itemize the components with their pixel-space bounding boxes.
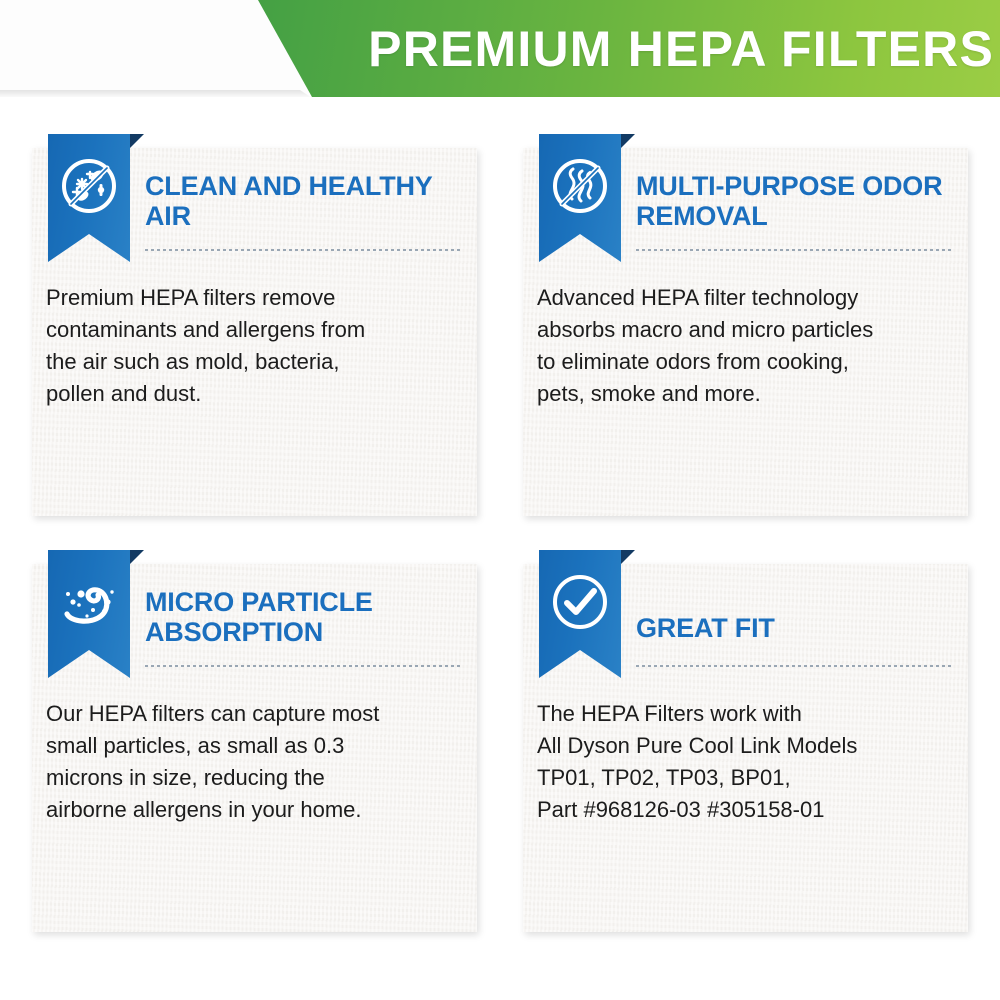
heading-divider (636, 665, 954, 667)
card-body-text: Our HEPA filters can capture most small … (46, 698, 466, 826)
ribbon-badge (48, 550, 130, 678)
no-odor-icon (548, 154, 612, 218)
banner-wedge-shadow (0, 90, 312, 97)
heading-divider (145, 249, 463, 251)
card-heading: MULTI-PURPOSE ODOR REMOVAL (636, 172, 952, 231)
card-body-text: Advanced HEPA filter technology absorbs … (537, 282, 957, 410)
ribbon-badge (539, 134, 621, 262)
feature-card-great-fit: GREAT FIT The HEPA Filters work with All… (523, 564, 968, 932)
card-heading: CLEAN AND HEALTHY AIR (145, 172, 461, 231)
dust-swirl-icon (57, 570, 121, 634)
no-germs-icon (57, 154, 121, 218)
feature-card-grid: CLEAN AND HEALTHY AIR Premium HEPA filte… (32, 148, 968, 932)
feature-card-clean-air: CLEAN AND HEALTHY AIR Premium HEPA filte… (32, 148, 477, 516)
card-heading: GREAT FIT (636, 614, 952, 644)
ribbon-badge (539, 550, 621, 678)
ribbon-fold-corner (130, 134, 144, 148)
header-banner: PREMIUM HEPA FILTERS (0, 0, 1000, 97)
feature-card-micro-particle: MICRO PARTICLE ABSORPTION Our HEPA filte… (32, 564, 477, 932)
banner-title: PREMIUM HEPA FILTERS (368, 20, 994, 78)
check-circle-icon (548, 570, 612, 634)
card-body-text: The HEPA Filters work with All Dyson Pur… (537, 698, 957, 826)
heading-divider (145, 665, 463, 667)
ribbon-badge (48, 134, 130, 262)
ribbon-fold-corner (621, 550, 635, 564)
ribbon-fold-corner (621, 134, 635, 148)
heading-divider (636, 249, 954, 251)
feature-card-odor-removal: MULTI-PURPOSE ODOR REMOVAL Advanced HEPA… (523, 148, 968, 516)
card-heading: MICRO PARTICLE ABSORPTION (145, 588, 461, 647)
card-body-text: Premium HEPA filters remove contaminants… (46, 282, 466, 410)
ribbon-fold-corner (130, 550, 144, 564)
banner-white-wedge (0, 0, 330, 97)
